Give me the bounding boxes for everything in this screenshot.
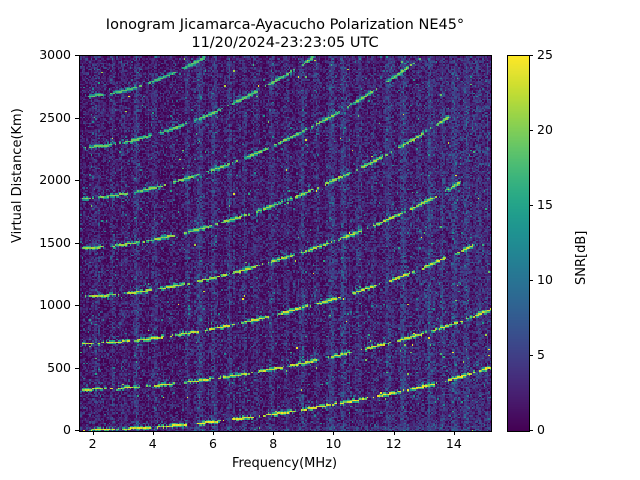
- chart-title: Ionogram Jicamarca-Ayacucho Polarization…: [0, 16, 570, 52]
- colorbar-tick-mark: [529, 205, 533, 206]
- x-tick-mark: [213, 431, 214, 435]
- chart-title-subtitle: 11/20/2024-23:23:05 UTC: [0, 34, 570, 52]
- colorbar-tick-mark: [529, 430, 533, 431]
- x-tick-label: 14: [429, 436, 479, 451]
- colorbar-tick-mark: [529, 280, 533, 281]
- x-tick-label: 12: [369, 436, 419, 451]
- x-tick-mark: [333, 431, 334, 435]
- colorbar-tick-label: 20: [537, 122, 553, 137]
- ionogram-heatmap: [80, 56, 491, 431]
- y-tick-label: 500: [0, 360, 71, 375]
- y-tick-label: 3000: [0, 47, 71, 62]
- colorbar-tick-mark: [529, 355, 533, 356]
- x-tick-mark: [454, 431, 455, 435]
- y-tick-mark: [75, 243, 79, 244]
- y-tick-label: 0: [0, 422, 71, 437]
- y-tick-mark: [75, 118, 79, 119]
- colorbar-label: SNR[dB]: [574, 231, 589, 285]
- x-tick-mark: [273, 431, 274, 435]
- y-tick-mark: [75, 430, 79, 431]
- y-tick-label: 1000: [0, 297, 71, 312]
- plot-area: [79, 55, 492, 432]
- x-tick-label: 6: [188, 436, 238, 451]
- x-tick-label: 2: [68, 436, 118, 451]
- colorbar-tick-label: 10: [537, 272, 553, 287]
- chart-title-line1: Ionogram Jicamarca-Ayacucho Polarization…: [0, 16, 570, 34]
- colorbar-tick-label: 25: [537, 47, 553, 62]
- colorbar-tick-mark: [529, 55, 533, 56]
- colorbar-tick-mark: [529, 130, 533, 131]
- colorbar-tick-label: 15: [537, 197, 553, 212]
- colorbar-tick-label: 5: [537, 347, 545, 362]
- x-tick-label: 4: [128, 436, 178, 451]
- y-tick-mark: [75, 180, 79, 181]
- ionogram-figure: Ionogram Jicamarca-Ayacucho Polarization…: [0, 0, 640, 480]
- x-axis-label: Frequency(MHz): [79, 456, 490, 471]
- y-tick-mark: [75, 305, 79, 306]
- y-axis-label: Virtual Distance(Km): [10, 108, 25, 243]
- colorbar: [507, 55, 530, 432]
- x-tick-mark: [153, 431, 154, 435]
- colorbar-gradient: [508, 56, 529, 431]
- x-tick-label: 8: [248, 436, 298, 451]
- x-tick-mark: [394, 431, 395, 435]
- colorbar-tick-label: 0: [537, 422, 545, 437]
- y-tick-mark: [75, 55, 79, 56]
- y-tick-mark: [75, 368, 79, 369]
- x-tick-label: 10: [308, 436, 358, 451]
- x-tick-mark: [93, 431, 94, 435]
